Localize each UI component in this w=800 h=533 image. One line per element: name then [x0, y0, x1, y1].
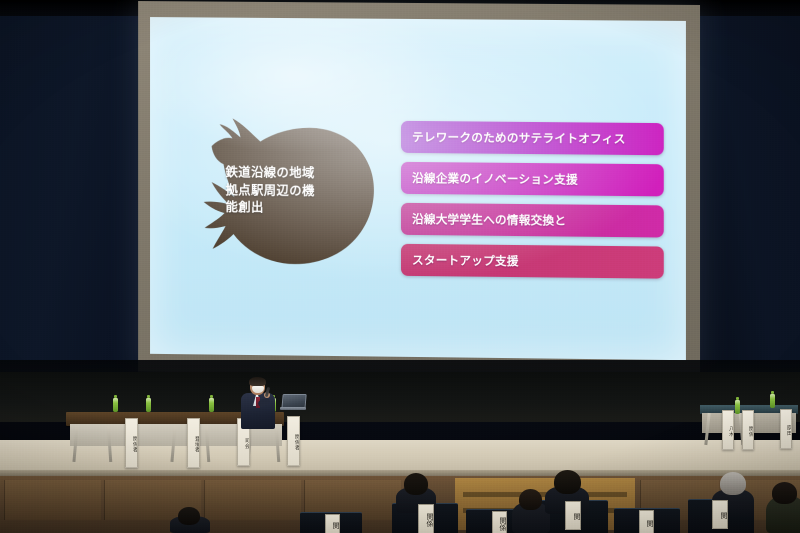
audience-seat-sign: 関係 [418, 504, 434, 533]
laptop [280, 394, 305, 410]
slide-bar-2-label: 沿線企業のイノベーション支援 [401, 170, 578, 188]
table-placard: 原田 [780, 409, 792, 449]
slide-bar-4: スタートアップ支援 [401, 244, 664, 279]
audience-head [720, 472, 746, 495]
hall-wall-left [0, 0, 150, 392]
brush-stroke-text: 鉄道沿線の地域 拠点駅周辺の機 能創出 [226, 164, 370, 218]
audience-seat-sign: 関 [565, 501, 581, 530]
speaker-person [236, 378, 282, 430]
audience-seat-sign: 関 [639, 510, 654, 533]
slide-bar-2: 沿線企業のイノベーション支援 [401, 162, 664, 197]
projection-screen-surface: 鉄道沿線の地域 拠点駅周辺の機 能創出 テレワークのためのサテライトオフィス 沿… [150, 17, 686, 360]
slide-bar-list: テレワークのためのサテライトオフィス 沿線企業のイノベーション支援 沿線大学学生… [401, 121, 664, 288]
table-placard: 八木 [722, 410, 734, 450]
table-placard: 関係 [742, 410, 754, 450]
presentation-slide: 鉄道沿線の地域 拠点駅周辺の機 能創出 テレワークのためのサテライトオフィス 沿… [150, 17, 686, 360]
slide-bar-4-label: スタートアップ支援 [401, 252, 519, 269]
audience-head [554, 470, 581, 494]
water-bottle [146, 398, 151, 412]
slide-bar-1: テレワークのためのサテライトオフィス [401, 121, 664, 155]
water-bottle [735, 400, 740, 414]
audience-head [772, 482, 797, 504]
slide-bar-3-label: 沿線大学学生への情報交換と [401, 211, 566, 229]
conference-photo-scene: 鉄道沿線の地域 拠点駅周辺の機 能創出 テレワークのためのサテライトオフィス 沿… [0, 0, 800, 533]
audience-head [404, 473, 428, 495]
table-placard: 関係者 [125, 418, 138, 468]
audience-seat-sign: 関 [712, 500, 728, 529]
audience-seat-sign: 関 [325, 514, 340, 533]
brush-stroke-block: 鉄道沿線の地域 拠点駅周辺の機 能創出 [200, 112, 384, 274]
audience-seat-sign: 関係 [492, 511, 507, 533]
hall-wall-right [690, 0, 800, 392]
water-bottle [113, 398, 118, 412]
projection-screen-frame: 鉄道沿線の地域 拠点駅周辺の機 能創出 テレワークのためのサテライトオフィス 沿… [138, 1, 700, 378]
water-bottle [770, 394, 775, 408]
water-bottle [209, 398, 214, 412]
table-placard: 登壇者 [187, 418, 200, 468]
speaker-hair [249, 377, 266, 386]
table-placard: 関係者 [287, 416, 300, 466]
audience-head [178, 507, 200, 525]
slide-bar-1-label: テレワークのためのサテライトオフィス [401, 129, 626, 147]
slide-bar-3: 沿線大学学生への情報交換と [401, 203, 664, 238]
laptop-keyboard-base [280, 407, 306, 410]
audience-head [519, 489, 542, 510]
